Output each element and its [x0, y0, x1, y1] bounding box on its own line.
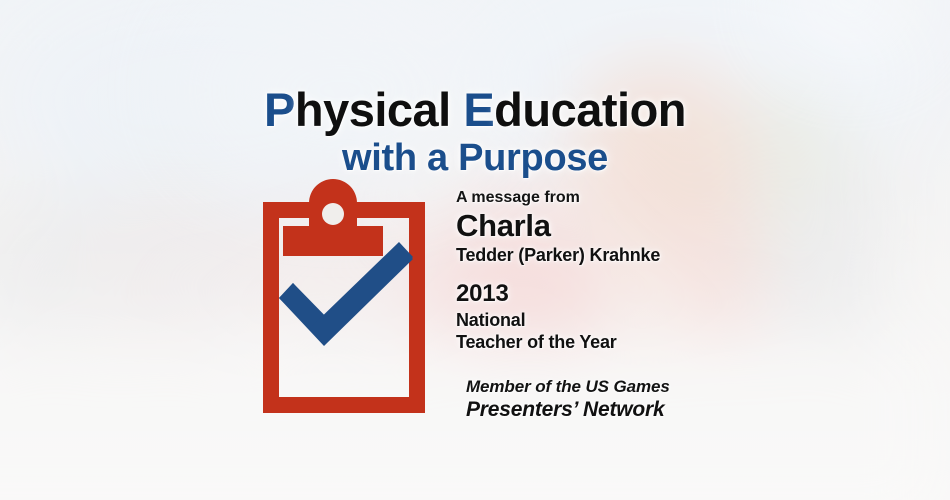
checkmark-stroke-long [309, 242, 413, 344]
network-membership-line: Member of the US Games [466, 378, 866, 395]
title-part-hysical: hysical [295, 83, 463, 136]
award-year: 2013 [456, 282, 856, 306]
presenter-first-name: Charla [456, 209, 856, 242]
award-scope: National [456, 310, 856, 331]
title-accent-p: P [264, 83, 295, 136]
award-title: Teacher of the Year [456, 332, 856, 353]
page-title: Physical Education [0, 86, 950, 133]
promo-banner: Physical Education with a Purpose A mess… [0, 0, 950, 500]
clipboard-check-icon [255, 178, 435, 433]
page-subtitle: with a Purpose [0, 139, 950, 177]
headline-block: Physical Education with a Purpose [0, 86, 950, 177]
presenter-info-column: A message from Charla Tedder (Parker) Kr… [456, 190, 856, 353]
network-name: Presenters’ Network [466, 399, 866, 420]
clipboard-clip-hole [322, 203, 344, 225]
title-accent-e: E [463, 83, 494, 136]
presenter-surname: Tedder (Parker) Krahnke [456, 246, 856, 264]
network-credit-block: Member of the US Games Presenters’ Netwo… [466, 378, 866, 420]
message-from-label: A message from [456, 190, 856, 206]
title-part-ducation: ducation [494, 83, 686, 136]
